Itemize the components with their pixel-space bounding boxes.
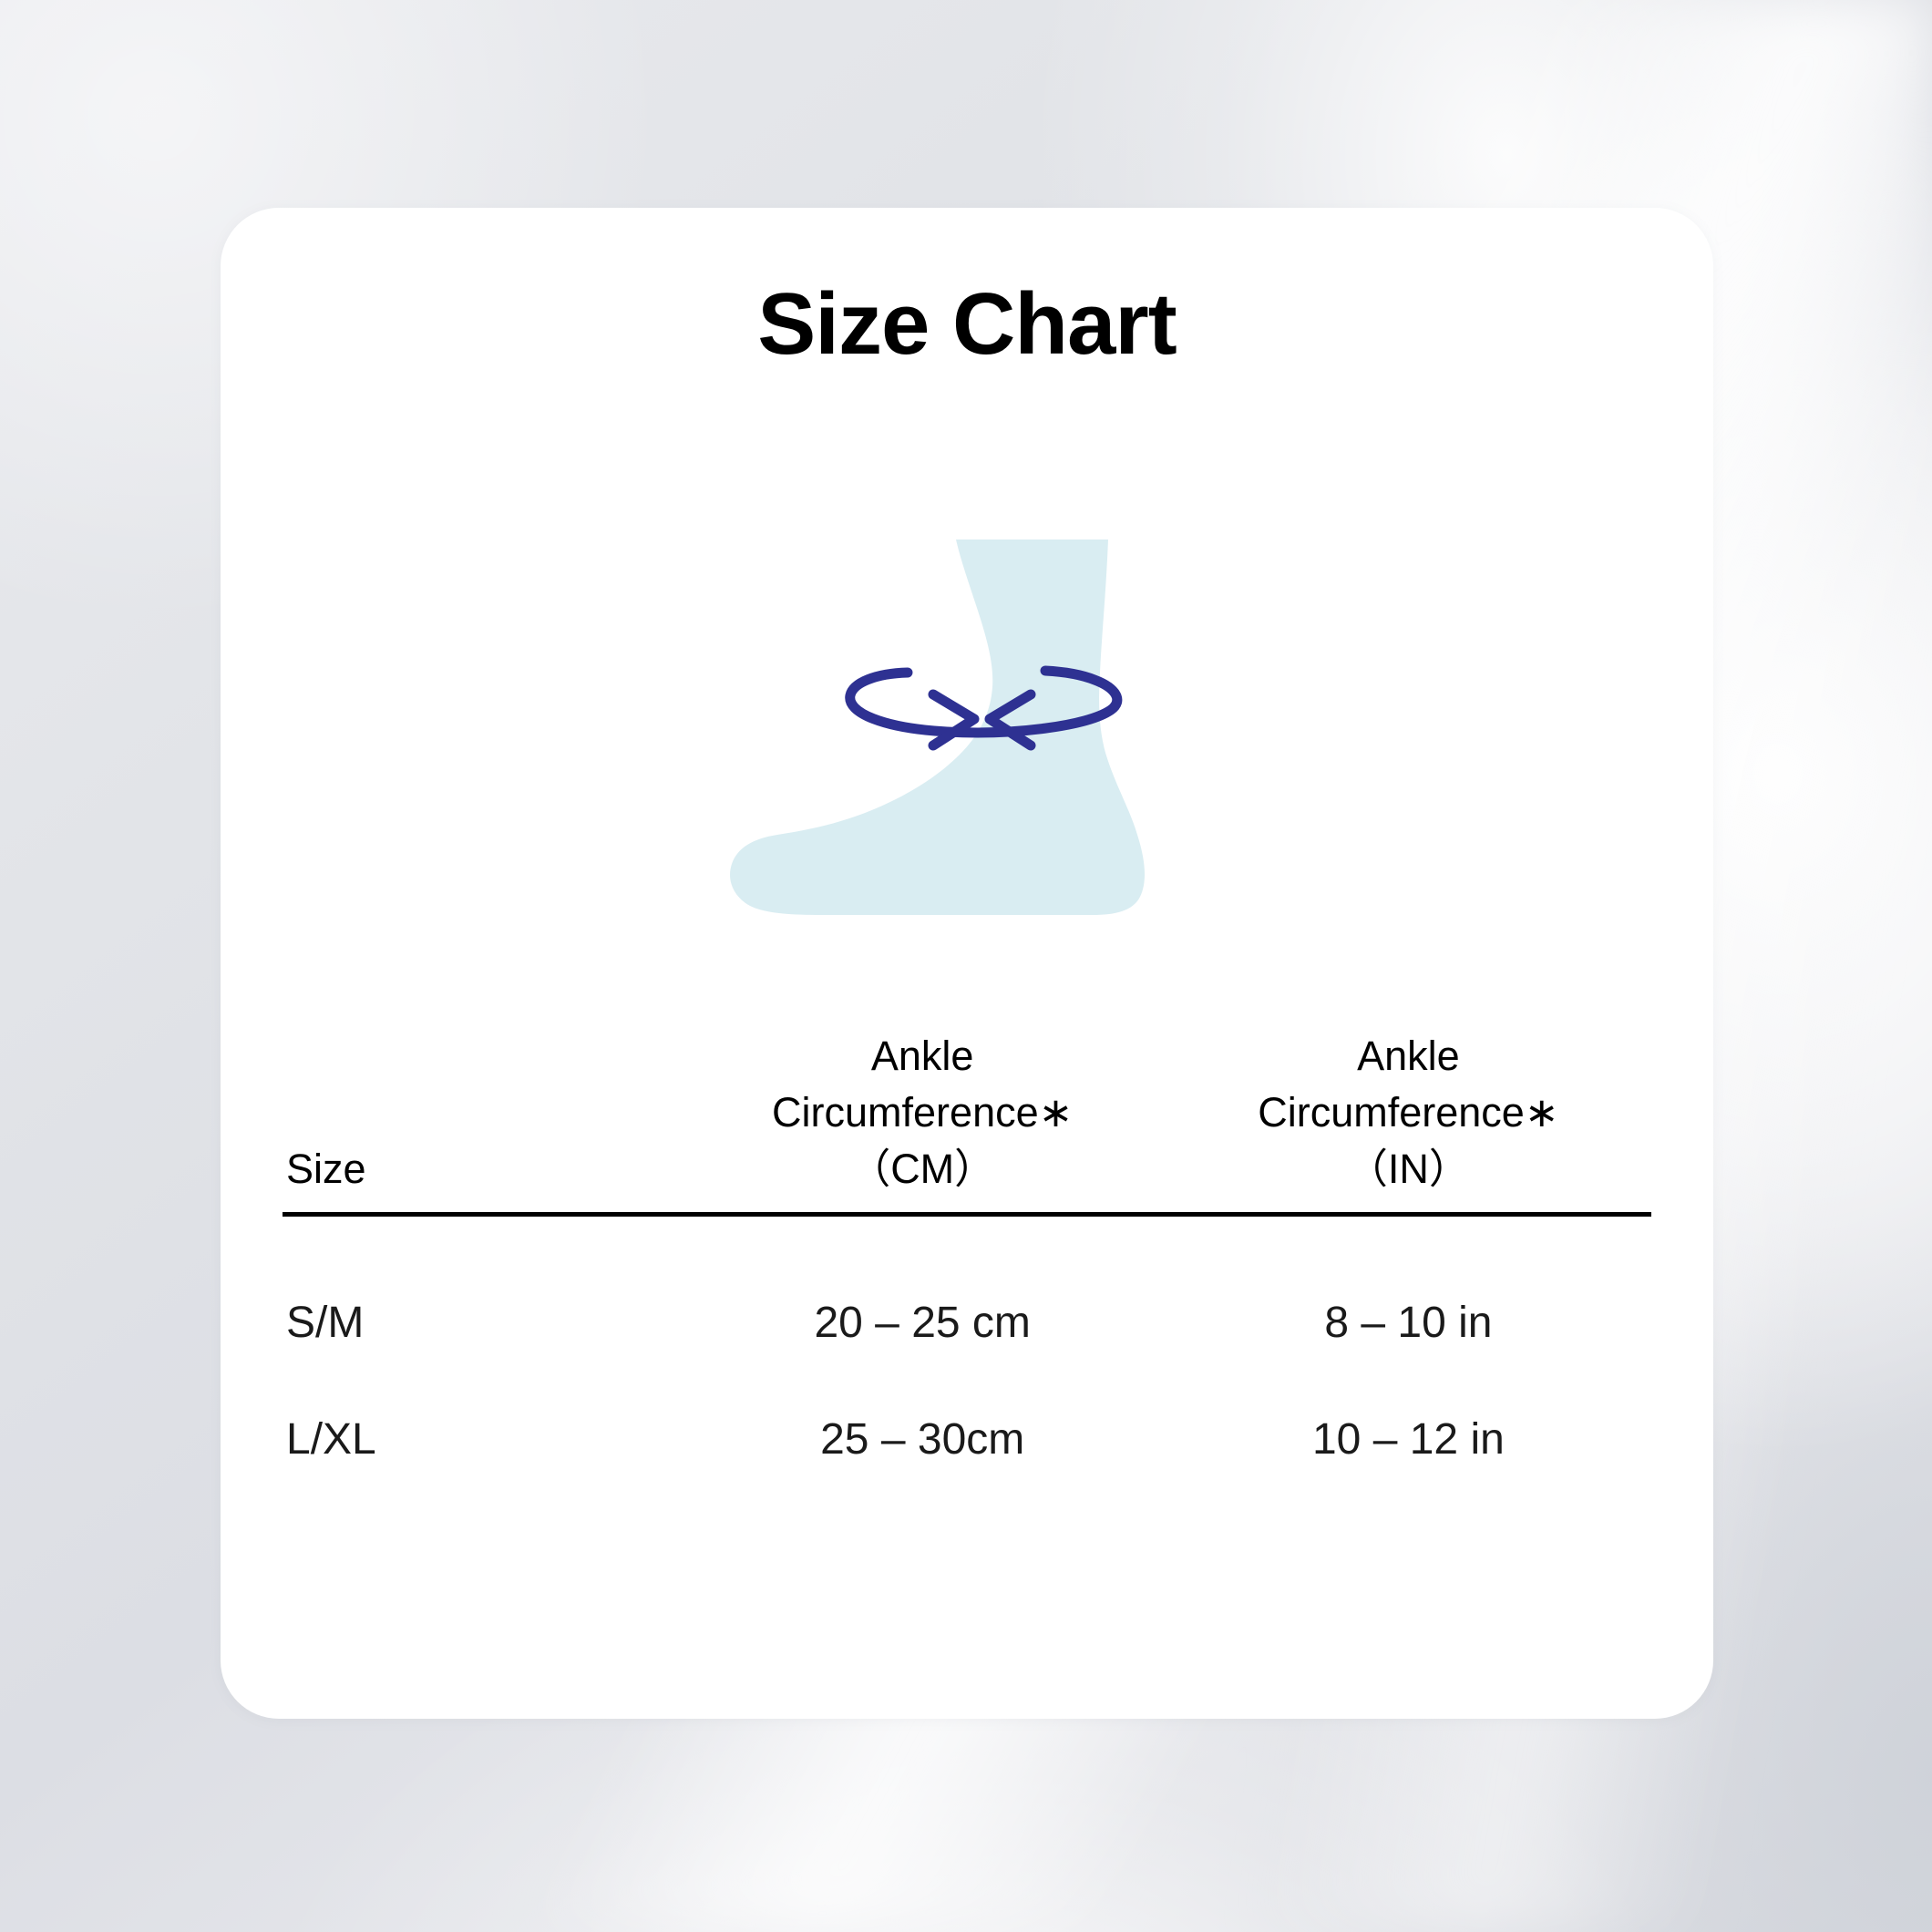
column-header-in-line-2: Circumference∗ [1166, 1084, 1651, 1141]
column-header-cm-line-3: （CM） [680, 1141, 1166, 1197]
cell-circumference-in: 10 – 12 in [1166, 1381, 1651, 1497]
cell-size: S/M [283, 1215, 680, 1382]
column-header-circumference-cm: Ankle Circumference∗ （CM） [680, 1028, 1166, 1215]
header-row: Size Ankle Circumference∗ （CM） Ankle Cir… [283, 1028, 1651, 1215]
table-body: S/M 20 – 25 cm 8 – 10 in L/XL 25 – 30cm … [283, 1215, 1651, 1498]
cell-circumference-in: 8 – 10 in [1166, 1215, 1651, 1382]
column-header-size: Size [283, 1028, 680, 1215]
foot-ankle-measure-illustration [221, 534, 1713, 917]
column-header-cm-line-2: Circumference∗ [680, 1084, 1166, 1141]
table-row: S/M 20 – 25 cm 8 – 10 in [283, 1215, 1651, 1382]
cell-circumference-cm: 20 – 25 cm [680, 1215, 1166, 1382]
cell-size: L/XL [283, 1381, 680, 1497]
table-row: L/XL 25 – 30cm 10 – 12 in [283, 1381, 1651, 1497]
arrow-right-head [933, 694, 974, 745]
cell-circumference-cm: 25 – 30cm [680, 1381, 1166, 1497]
column-header-in-line-1: Ankle [1166, 1028, 1651, 1084]
page-title: Size Chart [221, 279, 1713, 371]
size-chart-card: Size Chart Size Ankle C [221, 208, 1713, 1719]
column-header-circumference-in: Ankle Circumference∗ （IN） [1166, 1028, 1651, 1215]
column-header-in-line-3: （IN） [1166, 1141, 1651, 1197]
foot-illustration-svg [712, 534, 1222, 917]
table-header: Size Ankle Circumference∗ （CM） Ankle Cir… [283, 1028, 1651, 1215]
column-header-size-line-1: Size [286, 1141, 680, 1197]
column-header-cm-line-1: Ankle [680, 1028, 1166, 1084]
size-chart-table: Size Ankle Circumference∗ （CM） Ankle Cir… [283, 1028, 1651, 1497]
